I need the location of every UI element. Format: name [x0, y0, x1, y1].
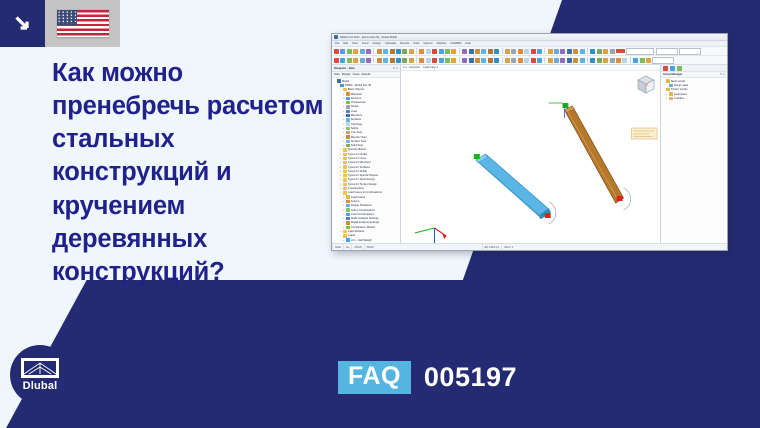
toolbar-icon-44[interactable]: [597, 58, 602, 63]
tree-node-label: Thicknesses: [351, 101, 366, 104]
menu-item-calculate[interactable]: Calculate: [385, 42, 396, 45]
sp-icon-1[interactable]: [663, 66, 668, 71]
tree-expander-icon[interactable]: +: [342, 140, 345, 143]
toolbar-separator: [459, 57, 460, 63]
menu-item-file[interactable]: File: [335, 42, 339, 45]
statusbar-segment-1: Steel: [332, 244, 343, 250]
toolbar-icon-52[interactable]: [646, 58, 651, 63]
tree-node-label: Steel scripts: [671, 80, 686, 83]
toolbar-separator: [630, 57, 631, 63]
tree-node-icon: [346, 200, 349, 203]
tree-node-icon: [346, 221, 349, 224]
toolbar-icon-1[interactable]: [334, 58, 339, 63]
toolbar-icon-11[interactable]: [396, 49, 401, 54]
toolbar-icon-29[interactable]: [505, 49, 510, 54]
tree-node-label: Line Sets: [351, 131, 362, 134]
statusbar-segment-6: EN 1993-1-1: [482, 244, 502, 250]
toolbar-separator: [459, 48, 460, 54]
toolbar-icon-26[interactable]: [488, 49, 493, 54]
tree-expander-icon[interactable]: +: [342, 114, 345, 117]
menu-item-help[interactable]: Help: [465, 42, 471, 45]
toolbar-icon-12[interactable]: [402, 49, 407, 54]
tree-expander-icon[interactable]: +: [342, 217, 345, 220]
tree-node-label: modules: [674, 97, 684, 100]
tree-expander-icon[interactable]: +: [342, 144, 345, 147]
toolbar-icon-51[interactable]: [640, 58, 645, 63]
tree-node-icon: [346, 114, 349, 117]
toolbar-icon-27[interactable]: [494, 58, 499, 63]
tree-expander-icon[interactable]: -: [336, 84, 339, 87]
toolbar-icon-36[interactable]: [548, 49, 553, 54]
tree-expander-icon[interactable]: +: [665, 97, 668, 100]
toolbar-icon-45[interactable]: [603, 49, 608, 54]
tree-node-icon: [346, 195, 349, 198]
tree-node-label: Solid Sets: [351, 144, 363, 147]
tree-node-label: Timber scripts: [671, 88, 688, 91]
app-titlebar: RFEM 6.01.0012 - [Demo-001.rf6] - Dlubal…: [332, 34, 727, 41]
view-cube-icon[interactable]: [634, 72, 658, 96]
tree-node-label: Load Cases: [351, 196, 365, 199]
menu-item-design[interactable]: Design: [373, 42, 381, 45]
toolbar-icon-13[interactable]: [409, 58, 414, 63]
arrow-down-right-chip[interactable]: [0, 0, 45, 47]
toolbar-icon-19[interactable]: [445, 49, 450, 54]
toolbar-icon-46[interactable]: [610, 49, 615, 54]
toolbar-separator: [587, 57, 588, 63]
script-tree-item-row[interactable]: +modules: [662, 96, 727, 100]
toolbar-icon-15[interactable]: [419, 49, 424, 54]
tree-node-label: Types for Lines: [348, 157, 366, 160]
faq-number: 005197: [424, 362, 517, 393]
model-geometry: [401, 70, 660, 251]
toolbar-icon-48[interactable]: [622, 58, 627, 63]
faq-footer: FAQ 005197: [338, 361, 517, 394]
menu-item-window[interactable]: Window: [437, 42, 447, 45]
navigator-pin-icon[interactable]: ⇱ ✕: [393, 67, 398, 70]
tree-node-icon: [346, 118, 349, 121]
navigator-tab-data[interactable]: Data: [334, 73, 340, 76]
tree-node-label: Openings: [351, 123, 363, 126]
toolbar-separator: [544, 48, 545, 54]
toolbar-icon-30[interactable]: [511, 58, 516, 63]
tree-node-label: Types for Nodes: [348, 153, 368, 156]
navigator-header: Navigator - Data ⇱ ✕: [332, 65, 400, 72]
statusbar-segment-5: [376, 244, 482, 250]
statusbar-segment-8: [515, 244, 621, 250]
tree-node-icon: [346, 204, 349, 207]
tree-expander-icon[interactable]: -: [333, 80, 336, 83]
toolbar-icon-38[interactable]: [560, 49, 565, 54]
tree-node-icon: [343, 170, 346, 173]
toolbar-icon-6[interactable]: [366, 49, 371, 54]
tree-node-label: parameters: [674, 93, 688, 96]
toolbar-separator: [544, 57, 545, 63]
tree-node-icon: [346, 105, 349, 108]
toolbar-icon-20[interactable]: [451, 49, 456, 54]
toolbar-icon-5[interactable]: [360, 49, 365, 54]
tree-node-label: Materials: [351, 93, 362, 96]
tree-node-icon: [346, 92, 349, 95]
tree-node-label: Types for Surfaces: [348, 166, 370, 169]
tree-expander-icon[interactable]: +: [342, 226, 345, 229]
statusbar-segment-9: [621, 244, 727, 250]
view-subtab-loadcase[interactable]: Load Case 1: [423, 66, 438, 69]
tree-expander-icon[interactable]: +: [342, 196, 345, 199]
dlubal-wordmark: Dlubal: [23, 380, 58, 392]
toolbar-icon-34[interactable]: [537, 49, 542, 54]
tree-node-label: Static Analysis Settings: [351, 217, 379, 220]
tree-expander-icon[interactable]: +: [342, 110, 345, 113]
tree-expander-icon[interactable]: +: [339, 174, 342, 177]
tree-node-icon: [666, 79, 669, 82]
toolbar-separator: [502, 57, 503, 63]
tree-node-icon: [343, 153, 346, 156]
tree-node-icon: [343, 165, 346, 168]
toolbar-icon-40[interactable]: [573, 49, 578, 54]
toolbar-icon-37[interactable]: [554, 58, 559, 63]
tree-node-icon: [669, 92, 672, 95]
app-toolbar-row2[interactable]: [332, 56, 727, 65]
tree-node-icon: [669, 97, 672, 100]
tree-node-icon: [666, 88, 669, 91]
toolbar-icon-39[interactable]: [567, 49, 572, 54]
tree-node-label: Design Situations: [351, 204, 372, 207]
script-manager-panel[interactable]: Script Manager ⇱ ✕ -Steel scriptsdesign-…: [660, 65, 727, 251]
toolbar-icon-4[interactable]: [353, 58, 358, 63]
tree-node-icon: [346, 131, 349, 134]
tree-expander-icon[interactable]: +: [342, 136, 345, 139]
toolbar-icon-45[interactable]: [603, 58, 608, 63]
toolbar-icon-46[interactable]: [610, 58, 615, 63]
tree-expander-icon[interactable]: +: [342, 200, 345, 203]
toolbar-icon-41[interactable]: [580, 49, 585, 54]
tree-node-icon: [343, 230, 346, 233]
toolbar-status-indicator[interactable]: [616, 49, 625, 53]
menu-item-insert[interactable]: Insert: [362, 42, 369, 45]
toolbar-icon-25[interactable]: [481, 58, 486, 63]
tree-node-label: Types for Timber Design: [348, 183, 377, 186]
tree-expander-icon[interactable]: +: [342, 93, 345, 96]
decor-navy-band: [0, 280, 760, 428]
tree-node-icon: [343, 148, 346, 151]
script-panel-toolbar[interactable]: [661, 65, 727, 72]
navigator-tab-display[interactable]: Display: [342, 73, 351, 76]
model-view[interactable]: 1.1 - Isometric Load Case 1: [401, 65, 660, 251]
tree-expander-icon[interactable]: +: [342, 101, 345, 104]
toolbar-icon-37[interactable]: [554, 49, 559, 54]
tree-expander-icon[interactable]: +: [339, 148, 342, 151]
tree-expander-icon[interactable]: +: [339, 161, 342, 164]
toolbar-icon-33[interactable]: [531, 58, 536, 63]
toolbar-icon-22[interactable]: [462, 49, 467, 54]
slide-root: RFEM 6.01.0012 - [Demo-001.rf6] - Dlubal…: [0, 0, 760, 428]
toolbar-icon-10[interactable]: [390, 58, 395, 63]
toolbar-icon-4[interactable]: [353, 49, 358, 54]
tree-node-label: Special Objects: [348, 148, 367, 151]
tree-node-label: design-steel: [674, 84, 689, 87]
tree-node-label: RFEM - Model File.rf6: [345, 84, 371, 87]
toolbar-icon-27[interactable]: [494, 49, 499, 54]
tree-node-icon: [337, 79, 340, 82]
tree-node-label: Basic Objects: [348, 88, 364, 91]
toolbar-icon-24[interactable]: [475, 49, 480, 54]
tree-node-icon: [343, 174, 346, 177]
toolbar-icon-47[interactable]: [616, 58, 621, 63]
toolbar-icon-23[interactable]: [469, 49, 474, 54]
toolbar-icon-40[interactable]: [573, 58, 578, 63]
tree-node-label: Members: [351, 114, 362, 117]
navigator-title: Navigator - Data: [334, 67, 355, 70]
toolbar-icon-26[interactable]: [488, 58, 493, 63]
frame-truss-icon: [21, 358, 59, 378]
navigator-tab-results[interactable]: Results: [362, 73, 371, 76]
tree-node-icon: [346, 144, 349, 147]
toolbar-icon-18[interactable]: [439, 49, 444, 54]
app-logo-icon: [334, 35, 338, 39]
tree-node-icon: [346, 208, 349, 211]
statusbar-segment-7: Mem: 2: [501, 244, 515, 250]
tree-node-label: Solids: [351, 127, 358, 130]
tree-node-label: Combination Wizard: [351, 226, 375, 229]
menu-item-options[interactable]: Options: [423, 42, 432, 45]
app-body: Navigator - Data ⇱ ✕ DataDisplayViewsRes…: [332, 65, 727, 251]
tree-node-label: Load Cases & Combinations: [348, 191, 382, 194]
toolbar-icon-17[interactable]: [432, 58, 437, 63]
toolbar-icon-16[interactable]: [426, 49, 431, 54]
tree-node-label: Nodes: [351, 105, 359, 108]
tree-node-label: Lines: [351, 110, 357, 113]
toolbar-separator: [416, 48, 417, 54]
toolbar-icon-33[interactable]: [531, 49, 536, 54]
tree-node-label: Types for Special Objects: [348, 174, 378, 177]
toolbar-separator: [587, 48, 588, 54]
tree-node-label: Types for Solids: [348, 170, 367, 173]
toolbar-icon-9[interactable]: [383, 58, 388, 63]
sp-icon-3[interactable]: [677, 66, 682, 71]
toolbar-icon-8[interactable]: [377, 49, 382, 54]
tree-node-icon: [346, 140, 349, 143]
toolbar-icon-31[interactable]: [518, 49, 523, 54]
tree-expander-icon[interactable]: +: [339, 170, 342, 173]
tree-node-icon: [346, 238, 349, 241]
toolbar-icon-50[interactable]: [633, 58, 638, 63]
toolbar-combo-3[interactable]: [656, 48, 678, 55]
tree-node-icon: [343, 161, 346, 164]
tree-expander-icon[interactable]: +: [339, 157, 342, 160]
tree-node-icon: [343, 88, 346, 91]
toolbar-icon-16[interactable]: [426, 58, 431, 63]
navigator-tab-views[interactable]: Views: [353, 73, 360, 76]
toolbar-combo-2[interactable]: [626, 48, 654, 55]
app-title-text: RFEM 6.01.0012 - [Demo-001.rf6] - Dlubal…: [340, 36, 397, 39]
tree-node-label: Imperfections: [348, 187, 364, 190]
statusbar-segment-2: Iso: [343, 244, 351, 250]
tree-expander-icon[interactable]: +: [342, 105, 345, 108]
tree-node-label: Member Sets: [351, 136, 367, 139]
toolbar-icon-31[interactable]: [518, 58, 523, 63]
tree-expander-icon[interactable]: +: [342, 118, 345, 121]
faq-badge: FAQ: [338, 361, 411, 394]
tree-node-label: Types for Steel Design: [348, 178, 375, 181]
toolbar-icon-2[interactable]: [340, 49, 345, 54]
tree-expander-icon[interactable]: +: [342, 131, 345, 134]
tree-expander-icon[interactable]: +: [339, 230, 342, 233]
toolbar-icon-32[interactable]: [524, 49, 529, 54]
tree-node-icon: [340, 84, 343, 87]
statusbar-segment-3: CRSS: [351, 244, 363, 250]
tree-node-icon: [346, 127, 349, 130]
tree-expander-icon[interactable]: +: [342, 123, 345, 126]
model-canvas[interactable]: [401, 70, 660, 251]
toolbar-icon-39[interactable]: [567, 58, 572, 63]
toolbar-icon-41[interactable]: [580, 58, 585, 63]
tree-node-icon: [343, 191, 346, 194]
tree-node-label: Load Wizards: [348, 230, 364, 233]
toolbar-icon-19[interactable]: [445, 58, 450, 63]
toolbar-icon-1[interactable]: [334, 49, 339, 54]
tree-node-label: Modal Analysis Settings: [351, 221, 379, 224]
tree-node-label: Actions: [351, 200, 360, 203]
tree-expander-icon[interactable]: +: [339, 153, 342, 156]
navigator-tree[interactable]: -Model-RFEM - Model File.rf6-Basic Objec…: [332, 78, 400, 247]
script-panel-title: Script Manager: [663, 73, 682, 76]
script-panel-tree[interactable]: -Steel scriptsdesign-steel-Timber script…: [661, 78, 727, 251]
tree-expander-icon[interactable]: +: [339, 166, 342, 169]
toolbar-icon-20[interactable]: [451, 58, 456, 63]
tree-node-icon: [346, 217, 349, 220]
toolbar-icon-15[interactable]: [419, 58, 424, 63]
arrow-down-right-icon: [12, 13, 34, 35]
toolbar-icon-12[interactable]: [402, 58, 407, 63]
tree-expander-icon[interactable]: -: [339, 191, 342, 194]
tree-node-label: Surfaces: [351, 118, 362, 121]
tree-node-icon: [346, 135, 349, 138]
toolbar-combo-1[interactable]: [652, 57, 674, 64]
toolbar-icon-29[interactable]: [505, 58, 510, 63]
navigator-panel[interactable]: Navigator - Data ⇱ ✕ DataDisplayViewsRes…: [332, 65, 401, 251]
tree-expander-icon[interactable]: +: [342, 209, 345, 212]
tree-node-icon: [346, 226, 349, 229]
toolbar-icon-36[interactable]: [548, 58, 553, 63]
toolbar-icon-38[interactable]: [560, 58, 565, 63]
toolbar-combo-4[interactable]: [679, 48, 701, 55]
tree-node-icon: [346, 110, 349, 113]
tree-expander-icon[interactable]: +: [339, 183, 342, 186]
statusbar-segment-4: SNAP: [364, 244, 376, 250]
tree-expander-icon[interactable]: +: [342, 204, 345, 207]
toolbar-icon-5[interactable]: [360, 58, 365, 63]
page-title: Как можно пренебречь расчетом стальных к…: [52, 57, 332, 289]
tree-expander-icon[interactable]: +: [342, 239, 345, 242]
tree-expander-icon[interactable]: -: [339, 88, 342, 91]
tree-node-icon: [343, 178, 346, 181]
toolbar-icon-3[interactable]: [347, 49, 352, 54]
tree-node-icon: [343, 157, 346, 160]
menu-item-edit[interactable]: Edit: [343, 42, 348, 45]
tree-expander-icon[interactable]: +: [342, 213, 345, 216]
app-toolbar-row1[interactable]: [332, 47, 727, 56]
toolbar-icon-8[interactable]: [377, 58, 382, 63]
tree-node-icon: [346, 213, 349, 216]
steel-i-beam-geometry: [474, 154, 556, 224]
tree-expander-icon[interactable]: +: [339, 178, 342, 181]
tree-expander-icon[interactable]: +: [342, 97, 345, 100]
tree-expander-icon[interactable]: -: [662, 80, 665, 83]
script-panel-close-icon[interactable]: ⇱ ✕: [720, 73, 725, 76]
toolbar-separator: [373, 48, 374, 54]
toolbar-icon-25[interactable]: [481, 49, 486, 54]
tree-node-icon: [343, 187, 346, 190]
tree-expander-icon[interactable]: +: [339, 187, 342, 190]
tree-node-icon: [669, 84, 672, 87]
toolbar-icon-32[interactable]: [524, 58, 529, 63]
tree-node-label: Sections: [351, 97, 361, 100]
toolbar-icon-11[interactable]: [396, 58, 401, 63]
tree-expander-icon[interactable]: +: [342, 127, 345, 130]
menu-item-cad-bim[interactable]: CAD/BIM: [450, 42, 461, 45]
toolbar-icon-44[interactable]: [597, 49, 602, 54]
toolbar-icon-30[interactable]: [511, 49, 516, 54]
view-tab-isometric[interactable]: 1.1 - Isometric: [403, 66, 420, 69]
toolbar-separator: [373, 57, 374, 63]
us-flag-icon: [56, 9, 110, 39]
toolbar-icon-23[interactable]: [469, 58, 474, 63]
menu-item-results[interactable]: Results: [400, 42, 409, 45]
toolbar-icon-22[interactable]: [462, 58, 467, 63]
toolbar-icon-18[interactable]: [439, 58, 444, 63]
toolbar-separator: [502, 48, 503, 54]
toolbar-icon-13[interactable]: [409, 49, 414, 54]
tree-node-icon: [346, 101, 349, 104]
tree-node-icon: [346, 122, 349, 125]
toolbar-icon-34[interactable]: [537, 58, 542, 63]
toolbar-icon-24[interactable]: [475, 58, 480, 63]
tree-node-icon: [343, 183, 346, 186]
toolbar-icon-9[interactable]: [383, 49, 388, 54]
app-statusbar: SteelIsoCRSSSNAPEN 1993-1-1Mem: 2: [332, 243, 727, 250]
toolbar-icon-10[interactable]: [390, 49, 395, 54]
sp-icon-2[interactable]: [670, 66, 675, 71]
toolbar-icon-3[interactable]: [347, 58, 352, 63]
tree-node-label: Model: [342, 80, 349, 83]
toolbar-icon-2[interactable]: [340, 58, 345, 63]
rfem-application-screenshot: RFEM 6.01.0012 - [Demo-001.rf6] - Dlubal…: [331, 33, 728, 251]
tree-expander-icon[interactable]: +: [665, 93, 668, 96]
timber-beam-geometry: [549, 103, 657, 210]
tree-node-label: LC1 - Self-Weight: [351, 239, 372, 242]
tree-expander-icon[interactable]: -: [339, 234, 342, 237]
tree-node-icon: [343, 234, 346, 237]
menu-item-view[interactable]: View: [352, 42, 358, 45]
menu-item-tools[interactable]: Tools: [413, 42, 419, 45]
toolbar-icon-17[interactable]: [432, 49, 437, 54]
tree-node-icon: [346, 97, 349, 100]
tree-node-label: Types for Members: [348, 161, 371, 164]
tree-expander-icon[interactable]: -: [662, 88, 665, 91]
toolbar-separator: [416, 57, 417, 63]
tree-node-label: Loads: [348, 234, 355, 237]
toolbar-icon-43[interactable]: [590, 58, 595, 63]
tree-expander-icon[interactable]: +: [342, 221, 345, 224]
tree-node-label: Surface Sets: [351, 140, 366, 143]
language-flag-chip[interactable]: [45, 0, 120, 47]
toolbar-icon-43[interactable]: [590, 49, 595, 54]
toolbar-icon-6[interactable]: [366, 58, 371, 63]
dlubal-logo: Dlubal: [10, 345, 70, 405]
tree-node-label: Action Combinations: [351, 209, 376, 212]
tree-node-label: Load Combinations: [351, 213, 374, 216]
